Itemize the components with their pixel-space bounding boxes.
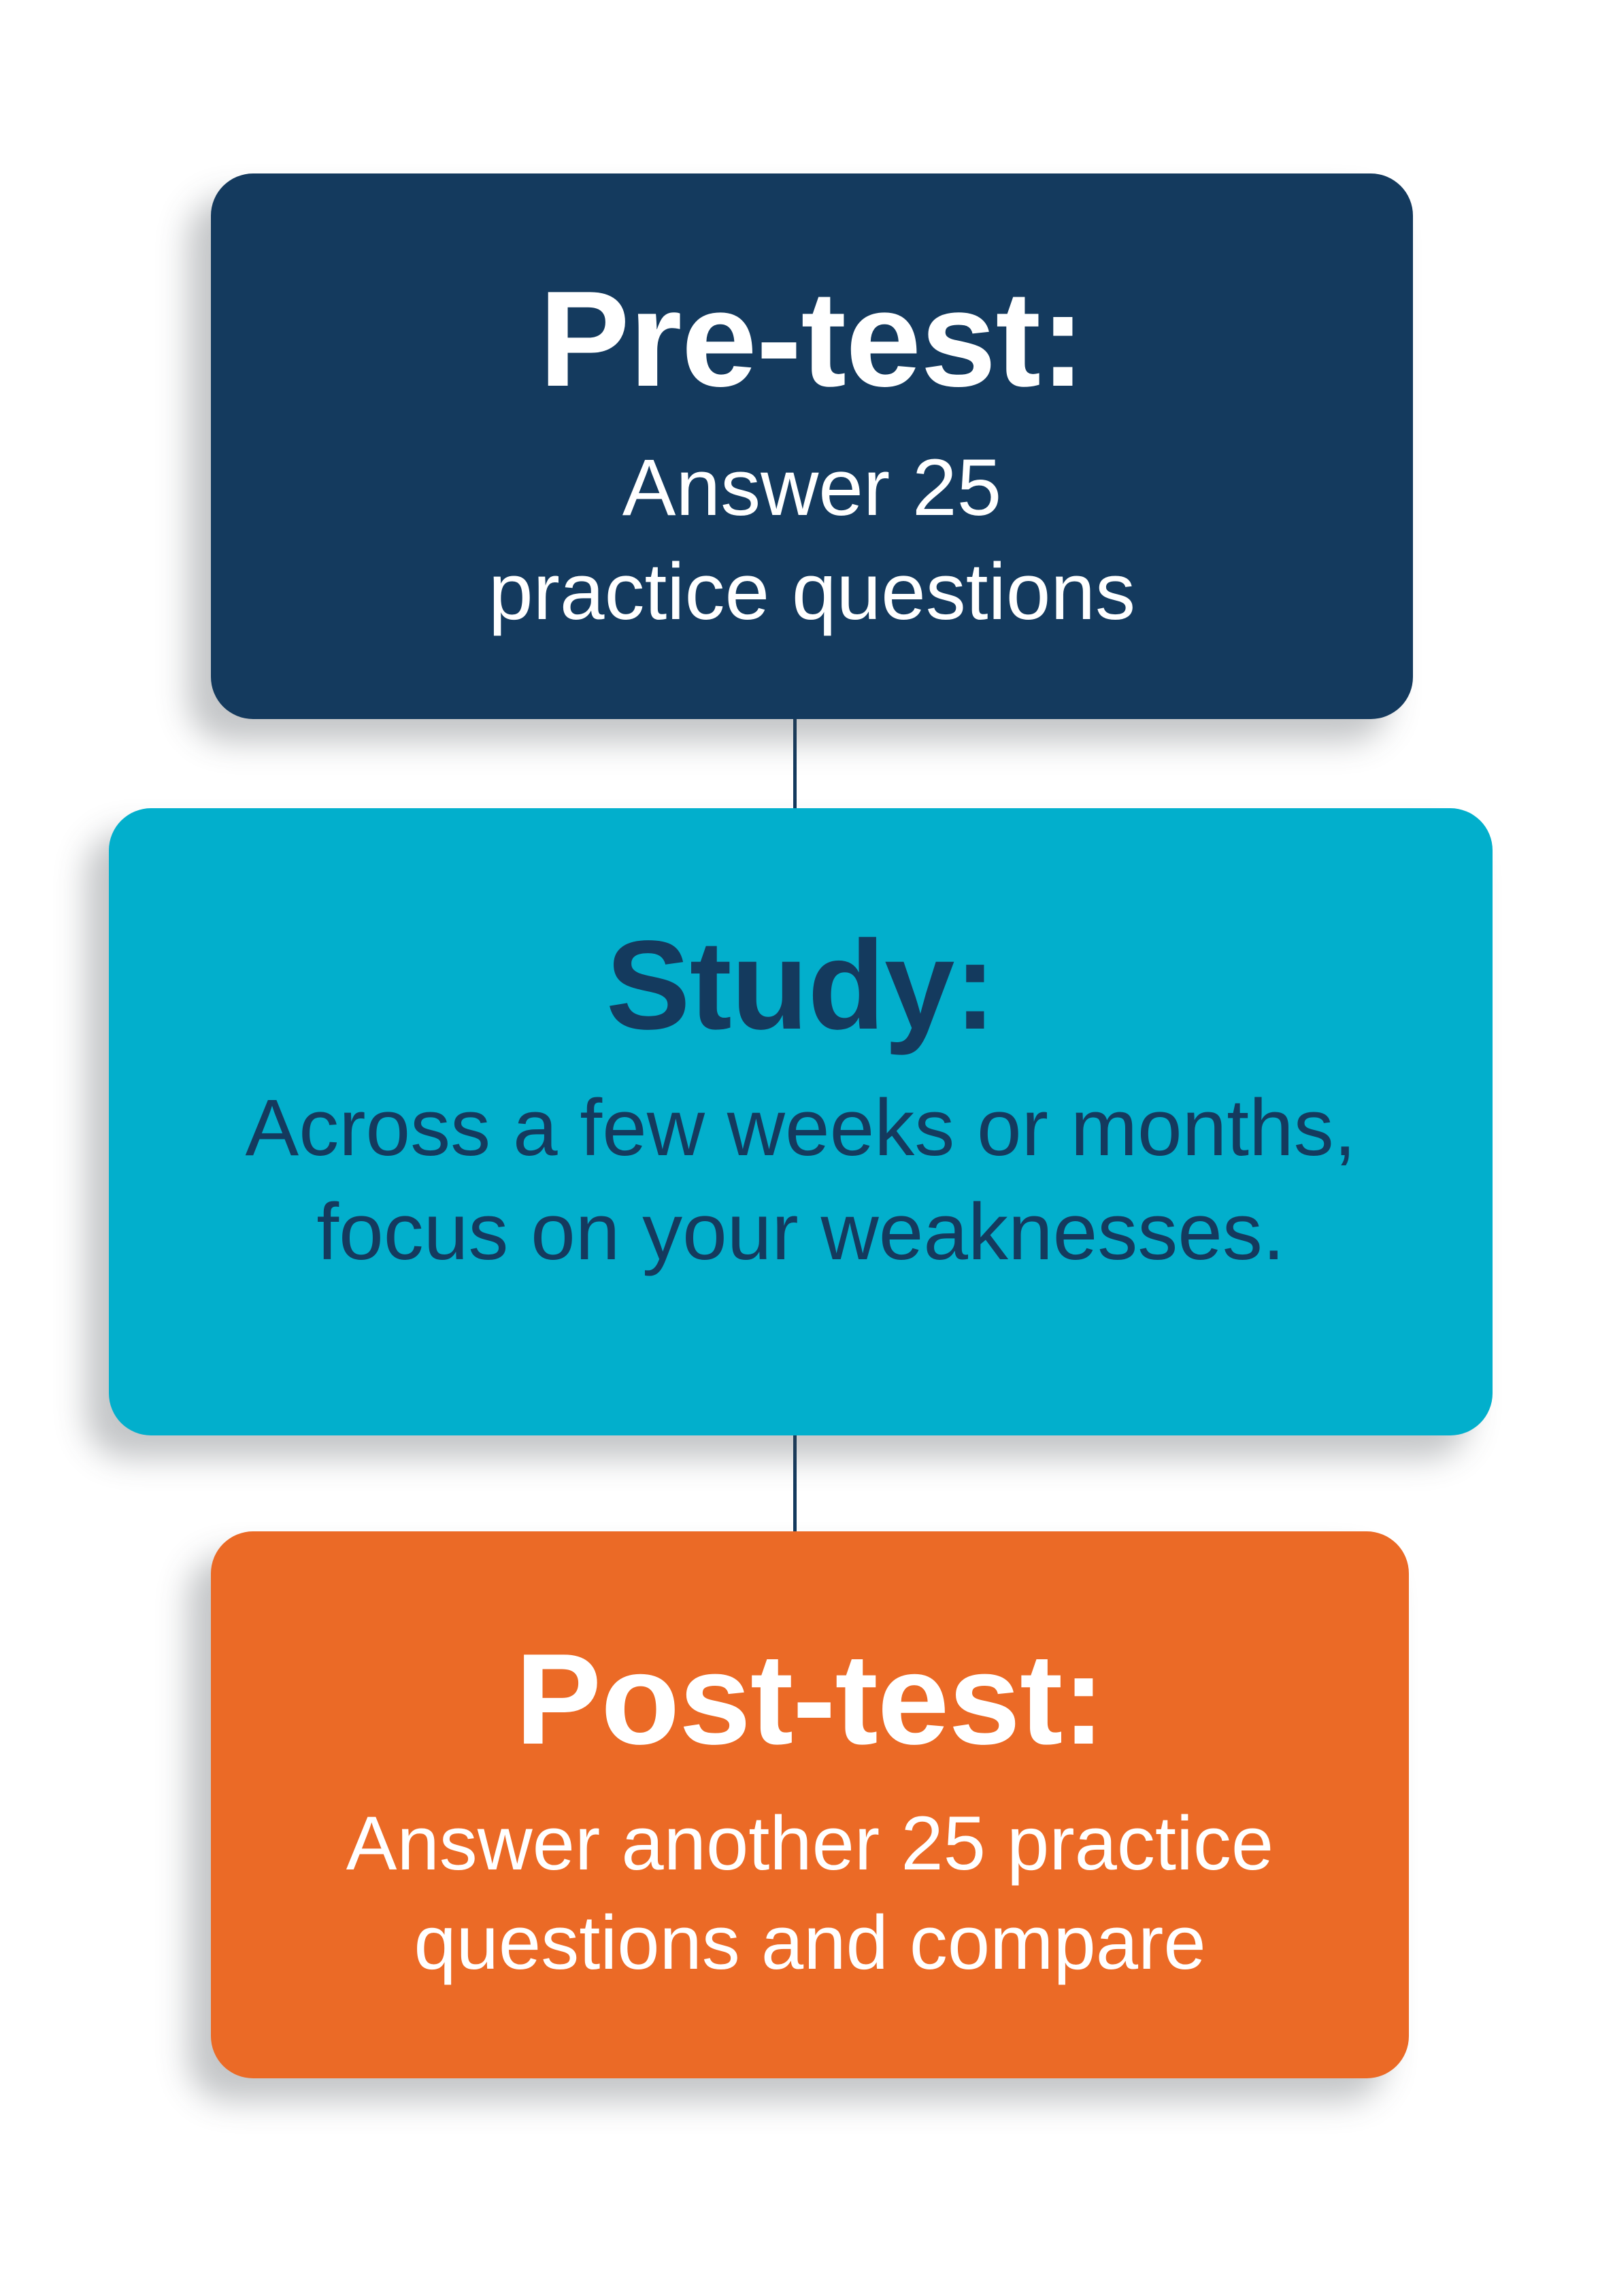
connector-study-to-posttest — [793, 1425, 797, 1540]
step-card-post-test: Post-test: Answer another 25 practice qu… — [211, 1531, 1409, 2078]
step-card-study: Study: Across a few weeks or months, foc… — [109, 808, 1493, 1435]
step-body-post-test: Answer another 25 practice questions and… — [346, 1794, 1273, 1992]
step-title-pre-test: Pre-test: — [539, 271, 1084, 407]
step-body-pre-test: Answer 25 practice questions — [488, 436, 1135, 645]
step-card-pre-test: Pre-test: Answer 25 practice questions — [211, 173, 1413, 719]
step-body-study: Across a few weeks or months, focus on y… — [246, 1076, 1356, 1285]
connector-pretest-to-study — [793, 708, 797, 816]
step-title-study: Study: — [606, 922, 996, 1049]
step-title-post-test: Post-test: — [515, 1635, 1104, 1764]
diagram-canvas: Pre-test: Answer 25 practice questions S… — [0, 0, 1615, 2296]
